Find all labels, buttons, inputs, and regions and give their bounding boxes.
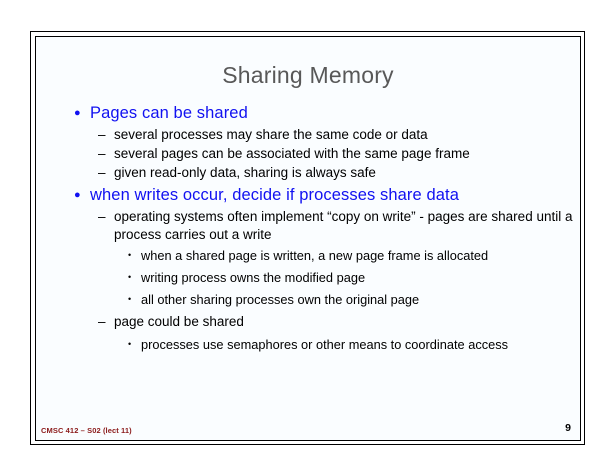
outline-item-label: several pages can be associated with the…	[114, 145, 580, 163]
bullet-dash-icon: –	[98, 126, 114, 144]
outline-item-l1: ● when writes occur, decide if processes…	[36, 185, 580, 205]
outline-item-label: operating systems often implement “copy …	[114, 208, 580, 244]
bullet-disc-icon: ●	[74, 185, 90, 205]
outline-item-label: several processes may share the same cod…	[114, 126, 580, 144]
outline-item-l2: – page could be shared	[36, 313, 580, 331]
outline-item-label: all other sharing processes own the orig…	[141, 291, 580, 308]
outline-item-label: when a shared page is written, a new pag…	[141, 247, 580, 264]
bullet-dot-icon: •	[128, 247, 141, 264]
outline-item-label: writing process owns the modified page	[141, 269, 580, 286]
bullet-dot-icon: •	[128, 291, 141, 308]
bullet-dash-icon: –	[98, 208, 114, 226]
outline-item-l1: ● Pages can be shared	[36, 103, 580, 123]
outline-item-label: processes use semaphores or other means …	[141, 336, 580, 353]
slide-frame-inner: Sharing Memory ● Pages can be shared – s…	[35, 36, 581, 441]
slide-frame-outer: Sharing Memory ● Pages can be shared – s…	[30, 31, 585, 445]
bullet-dot-icon: •	[128, 336, 141, 353]
outline-item-label: Pages can be shared	[90, 103, 580, 123]
slide-outline: ● Pages can be shared – several processe…	[36, 103, 580, 354]
footer-page-number: 9	[565, 422, 571, 434]
outline-item-l2: – several pages can be associated with t…	[36, 145, 580, 163]
bullet-dash-icon: –	[98, 164, 114, 182]
bullet-disc-icon: ●	[74, 103, 90, 123]
page-title: Sharing Memory	[36, 62, 580, 89]
outline-item-l3: • all other sharing processes own the or…	[36, 291, 580, 308]
footer-course-label: CMSC 412 – S02 (lect 11)	[41, 426, 132, 435]
outline-item-l2: – several processes may share the same c…	[36, 126, 580, 144]
bullet-dash-icon: –	[98, 313, 114, 331]
outline-item-l2: – operating systems often implement “cop…	[36, 208, 580, 244]
outline-item-l2: – given read-only data, sharing is alway…	[36, 164, 580, 182]
outline-item-label: page could be shared	[114, 313, 580, 331]
outline-item-l3: • when a shared page is written, a new p…	[36, 247, 580, 264]
bullet-dash-icon: –	[98, 145, 114, 163]
outline-item-l3: • writing process owns the modified page	[36, 269, 580, 286]
outline-item-l3: • processes use semaphores or other mean…	[36, 336, 580, 353]
outline-item-label: given read-only data, sharing is always …	[114, 164, 580, 182]
bullet-dot-icon: •	[128, 269, 141, 286]
outline-item-label: when writes occur, decide if processes s…	[90, 185, 580, 205]
